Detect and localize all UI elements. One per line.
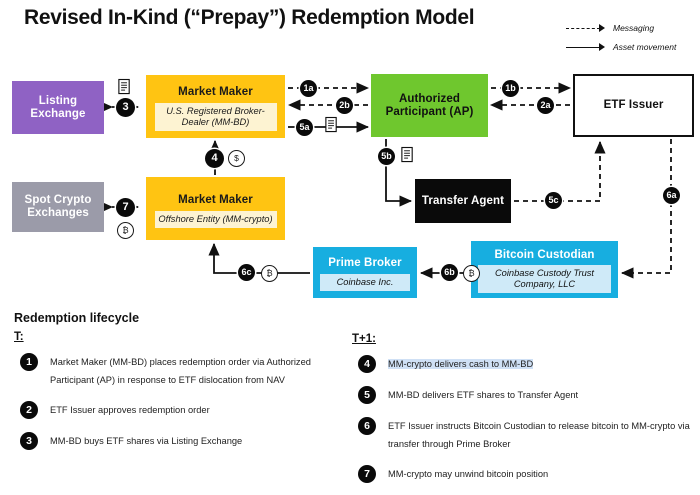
- page-title: Revised In-Kind (“Prepay”) Redemption Mo…: [24, 6, 474, 30]
- step-text: MM-BD buys ETF shares via Listing Exchan…: [50, 436, 242, 446]
- legend: Messaging Asset movement: [566, 20, 700, 58]
- step-marker-6c[interactable]: 6c: [238, 264, 255, 281]
- node-spot-crypto-exchanges[interactable]: Spot Crypto Exchanges: [12, 182, 104, 232]
- legend-item-messaging: Messaging: [566, 20, 700, 36]
- node-title: Market Maker: [178, 86, 253, 99]
- node-market-maker-bd[interactable]: Market Maker U.S. Registered Broker-Deal…: [146, 75, 285, 138]
- step-text: MM-crypto may unwind bitcoin position: [388, 469, 548, 479]
- step-marker-5a[interactable]: 5a: [296, 119, 313, 136]
- step-marker-2b[interactable]: 2b: [336, 97, 353, 114]
- node-subtitle: Coinbase Inc.: [320, 274, 410, 291]
- step-marker-6b[interactable]: 6b: [441, 264, 458, 281]
- step-number: 5: [358, 386, 376, 404]
- step-marker-4[interactable]: 4: [205, 149, 224, 168]
- bitcoin-badge-icon: ₿: [463, 265, 480, 282]
- list-item: 6 ETF Issuer instructs Bitcoin Custodian…: [352, 416, 692, 452]
- step-text: ETF Issuer approves redemption order: [50, 405, 210, 415]
- dollar-badge-icon: $: [228, 150, 245, 167]
- step-marker-1a[interactable]: 1a: [300, 80, 317, 97]
- node-listing-exchange[interactable]: Listing Exchange: [12, 81, 104, 134]
- solid-arrow-icon: [566, 43, 608, 52]
- step-number: 3: [20, 432, 38, 450]
- legend-item-asset-movement: Asset movement: [566, 39, 700, 55]
- node-subtitle: U.S. Registered Broker-Dealer (MM-BD): [155, 103, 277, 131]
- document-icon: [324, 116, 339, 134]
- node-title: ETF Issuer: [604, 99, 664, 112]
- step-text: Market Maker (MM-BD) places redemption o…: [50, 357, 311, 385]
- list-item: 3 MM-BD buys ETF shares via Listing Exch…: [14, 431, 344, 450]
- lifecycle-column-head: T+1:: [352, 333, 692, 345]
- node-etf-issuer[interactable]: ETF Issuer: [573, 74, 694, 137]
- node-prime-broker[interactable]: Prime Broker Coinbase Inc.: [313, 247, 417, 298]
- list-item: 2 ETF Issuer approves redemption order: [14, 400, 344, 419]
- step-marker-1b[interactable]: 1b: [502, 80, 519, 97]
- bitcoin-badge-icon: ₿: [117, 222, 134, 239]
- node-title: Bitcoin Custodian: [494, 249, 594, 262]
- lifecycle-column-t: T: 1 Market Maker (MM-BD) places redempt…: [14, 331, 344, 462]
- dashed-arrow-icon: [566, 24, 608, 33]
- document-icon: [117, 78, 132, 96]
- list-item: 1 Market Maker (MM-BD) places redemption…: [14, 352, 344, 388]
- step-number: 2: [20, 401, 38, 419]
- step-text: MM-BD delivers ETF shares to Transfer Ag…: [388, 390, 578, 400]
- step-text: MM-crypto delivers cash to MM-BD: [388, 359, 533, 369]
- step-text: ETF Issuer instructs Bitcoin Custodian t…: [388, 421, 690, 449]
- lifecycle-heading: Redemption lifecycle: [14, 311, 139, 325]
- node-title: Transfer Agent: [422, 195, 504, 208]
- diagram-canvas: Revised In-Kind (“Prepay”) Redemption Mo…: [0, 0, 700, 481]
- step-number: 4: [358, 355, 376, 373]
- node-title: Spot Crypto Exchanges: [12, 194, 104, 220]
- node-authorized-participant[interactable]: Authorized Participant (AP): [371, 74, 488, 137]
- step-number: 7: [358, 465, 376, 483]
- lifecycle-column-t1: T+1: 4 MM-crypto delivers cash to MM-BD …: [352, 333, 692, 495]
- list-item: 5 MM-BD delivers ETF shares to Transfer …: [352, 385, 692, 404]
- step-marker-6a[interactable]: 6a: [663, 187, 680, 204]
- node-subtitle: Offshore Entity (MM-crypto): [155, 211, 277, 228]
- step-marker-7[interactable]: 7: [116, 198, 135, 217]
- node-market-maker-crypto[interactable]: Market Maker Offshore Entity (MM-crypto): [146, 177, 285, 240]
- list-item: 4 MM-crypto delivers cash to MM-BD: [352, 354, 692, 373]
- legend-label-messaging: Messaging: [613, 23, 654, 33]
- step-marker-5b[interactable]: 5b: [378, 148, 395, 165]
- node-subtitle: Coinbase Custody Trust Company, LLC: [478, 265, 611, 293]
- node-title: Authorized Participant (AP): [371, 93, 488, 119]
- step-number: 6: [358, 417, 376, 435]
- list-item: 7 MM-crypto may unwind bitcoin position: [352, 464, 692, 483]
- document-icon: [400, 146, 415, 164]
- step-marker-5c[interactable]: 5c: [545, 192, 562, 209]
- node-title: Market Maker: [178, 194, 253, 207]
- node-bitcoin-custodian[interactable]: Bitcoin Custodian Coinbase Custody Trust…: [471, 241, 618, 298]
- node-title: Listing Exchange: [12, 95, 104, 121]
- lifecycle-column-head: T:: [14, 331, 344, 343]
- node-transfer-agent[interactable]: Transfer Agent: [415, 179, 511, 223]
- step-marker-2a[interactable]: 2a: [537, 97, 554, 114]
- node-title: Prime Broker: [328, 257, 401, 270]
- step-number: 1: [20, 353, 38, 371]
- bitcoin-badge-icon: ₿: [261, 265, 278, 282]
- step-marker-3[interactable]: 3: [116, 98, 135, 117]
- legend-label-asset-movement: Asset movement: [613, 42, 676, 52]
